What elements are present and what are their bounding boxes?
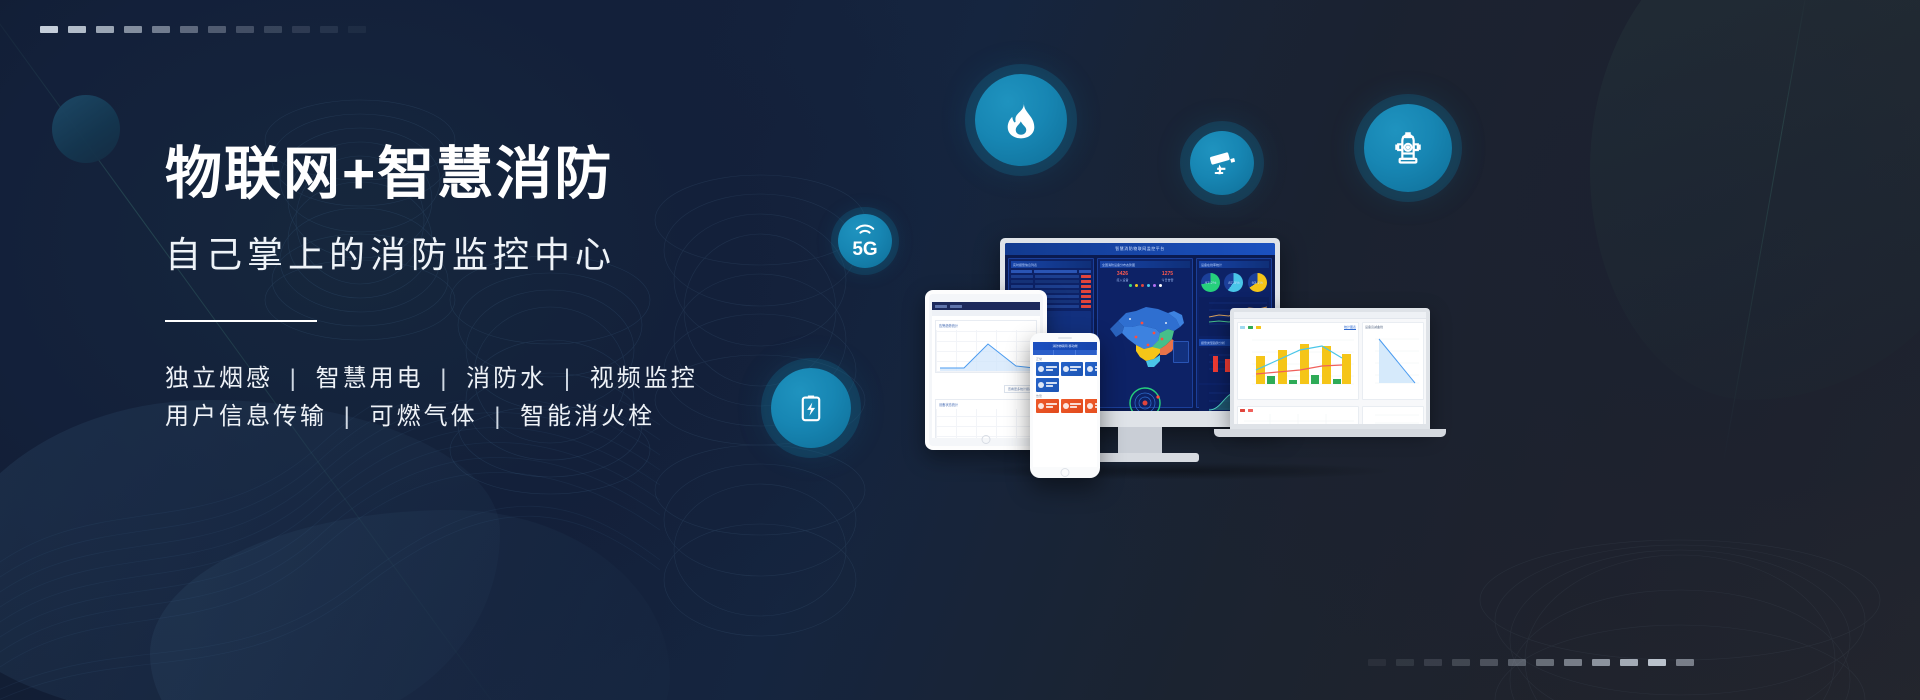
feature-item: 智能消火栓: [520, 403, 655, 430]
tile-label: [1070, 403, 1081, 409]
wave-blob-bottom-left: [0, 400, 500, 700]
kpi-value: 3426: [1116, 271, 1128, 277]
feature-item: 智慧用电: [316, 365, 424, 392]
laptop-card-header-2: 设备衰减曲线: [1365, 325, 1421, 329]
online-rate-header: 设备在线率统计: [1199, 261, 1269, 268]
online-rate-title: 设备在线率统计: [1201, 263, 1222, 267]
laptop-card-title-2: 设备衰减曲线: [1365, 325, 1383, 329]
feature-separator: |: [433, 365, 456, 392]
gauge-row: 97.2% 87.5% 93.1%: [1199, 270, 1269, 295]
tile-label: [1095, 366, 1098, 372]
tablet-chart-card-1: 告警趋势统计: [935, 320, 1037, 373]
dash-ruler-bottom-right: [1368, 659, 1694, 666]
phone-speaker: [1058, 337, 1072, 339]
diagonal-accent-line-right: [1718, 0, 1809, 492]
kpi-value: 1275: [1161, 271, 1173, 277]
tablet-screen: 告警趋势统计 查看更多统计报表 设备状态统计: [932, 302, 1040, 438]
teal-circle-decoration: [52, 95, 120, 163]
hero-banner: 物联网+智慧消防 自己掌上的消防监控中心 独立烟感 | 智慧用电 | 消防水 |…: [0, 0, 1920, 700]
cctv-camera-icon: [1190, 131, 1254, 195]
feature-item: 独立烟感: [165, 365, 273, 392]
laptop-card-header: 统计图表: [1240, 325, 1356, 330]
wave-blob-top-right: [1590, 0, 1920, 400]
radar-chart: [1100, 381, 1190, 411]
phone-tile[interactable]: [1061, 362, 1084, 376]
feature-item: 可燃气体: [370, 403, 478, 430]
laptop-tab-chart[interactable]: 统计图表: [1344, 325, 1356, 330]
kpi-label: 今日告警: [1161, 278, 1173, 282]
laptop-base: [1214, 429, 1446, 437]
tile-icon: [1063, 403, 1069, 409]
tile-label: [1046, 382, 1057, 388]
tablet-chart-title-2: 设备状态统计: [936, 400, 1036, 409]
monitor-neck: [1118, 427, 1162, 453]
alarm-trend-title: 报警类型趋势分析: [1201, 341, 1225, 345]
dashboard-header: 智慧消防物联网监控平台: [1005, 243, 1275, 255]
laptop-side-chart-card: [1362, 406, 1424, 424]
laptop-chart-row-1: 统计图表: [1234, 319, 1426, 403]
page-title: 物联网+智慧消防: [165, 142, 885, 208]
tile-icon: [1038, 366, 1044, 372]
alarm-list-title: 实时报警信息列表: [1013, 263, 1037, 267]
feature-item: 消防水: [466, 365, 547, 392]
phone-tile[interactable]: [1061, 399, 1084, 413]
phone-tile-grid-orange: [1033, 399, 1097, 413]
tile-icon: [1038, 403, 1044, 409]
phone-home-button[interactable]: [1061, 468, 1070, 477]
5g-signal-icon: 5G: [838, 214, 892, 268]
tablet-tab-devices[interactable]: [950, 305, 962, 308]
laptop-app-header: [1234, 312, 1426, 319]
flame-icon: [975, 74, 1067, 166]
feature-separator: |: [283, 365, 306, 392]
alarm-list-header: 实时报警信息列表: [1011, 261, 1091, 268]
fire-hydrant-icon: [1364, 104, 1452, 192]
tile-icon: [1087, 366, 1093, 372]
battery-charge-icon: [771, 368, 851, 448]
phone-screen: 消防物联网·移动端 正常: [1033, 342, 1097, 467]
tile-label: [1070, 366, 1081, 372]
tile-icon: [1087, 403, 1093, 409]
mobile-phone: 消防物联网·移动端 正常: [1030, 333, 1100, 478]
kpi-card: 1275 今日告警: [1161, 271, 1173, 282]
laptop-lid: 统计图表: [1230, 308, 1430, 429]
device-shadow: [960, 462, 1400, 480]
tile-icon: [1038, 382, 1044, 388]
table-row: [1011, 275, 1091, 278]
gauge-value: 97.2%: [1201, 273, 1220, 292]
phone-section-alarm: 告警: [1033, 392, 1097, 399]
phone-tile[interactable]: [1036, 362, 1059, 376]
tablet-area-chart: [936, 330, 1036, 372]
kpi-card: 3426 接入设备: [1116, 271, 1128, 282]
tablet-chart-card-2: 设备状态统计: [935, 399, 1037, 438]
tablet-flat-chart: [936, 409, 1036, 438]
laptop-bar-chart-card: 统计图表: [1237, 322, 1359, 400]
dash-ruler-top-left: [40, 26, 366, 33]
phone-tab-bar: [1033, 350, 1097, 355]
phone-title: 消防物联网·移动端: [1053, 344, 1078, 348]
feature-item: 视频监控: [590, 365, 698, 392]
wave-blob-bottom-left-2: [150, 510, 670, 700]
phone-tab-overview[interactable]: [1033, 350, 1054, 355]
kpi-row: 3426 接入设备 1275 今日告警: [1100, 271, 1190, 282]
laptop-screen: 统计图表: [1234, 312, 1426, 424]
phone-tile-grid-blue: [1033, 362, 1097, 392]
phone-section-normal: 正常: [1033, 355, 1097, 362]
gauge-chart: 87.5%: [1224, 273, 1243, 292]
moire-pattern-bottom-right: [1440, 440, 1920, 700]
map-panel: 全国消防设备分布态势图 3426 接入设备 1275 今日告警: [1097, 258, 1193, 408]
table-header-row: [1011, 270, 1091, 273]
gauge-chart: 93.1%: [1248, 273, 1267, 292]
phone-tile[interactable]: [1036, 378, 1059, 392]
phone-tile[interactable]: [1085, 362, 1097, 376]
tile-label: [1095, 403, 1098, 409]
title-divider: [165, 320, 317, 322]
phone-header: 消防物联网·移动端: [1033, 342, 1097, 350]
dashboard-title: 智慧消防物联网监控平台: [1115, 246, 1165, 252]
gauge-value: 93.1%: [1248, 273, 1267, 292]
feature-separator: |: [557, 365, 580, 392]
tablet-home-button[interactable]: [982, 435, 991, 444]
feature-separator: |: [337, 403, 360, 430]
map-panel-title: 全国消防设备分布态势图: [1102, 263, 1135, 267]
china-map: [1100, 289, 1190, 381]
tablet-chart-title-1: 告警趋势统计: [936, 321, 1036, 330]
tile-icon: [1063, 366, 1069, 372]
laptop-device: 统计图表: [1230, 308, 1430, 437]
map-panel-header: 全国消防设备分布态势图: [1100, 261, 1190, 268]
device-mockup-cluster: 智慧消防物联网监控平台 实时报警信息列表: [900, 230, 1460, 480]
table-row: [1011, 280, 1091, 283]
laptop-area-chart-card: 设备衰减曲线: [1362, 322, 1424, 400]
laptop-chart-legend: [1240, 326, 1261, 329]
phone-tab-alarm[interactable]: [1054, 350, 1075, 355]
gauge-value: 87.5%: [1224, 273, 1243, 292]
tile-label: [1046, 403, 1057, 409]
feature-item: 用户信息传输: [165, 403, 327, 430]
gauge-chart: 97.2%: [1201, 273, 1220, 292]
laptop-legend-2: [1240, 409, 1356, 412]
laptop-chart-row-2: [1234, 403, 1426, 424]
tablet-header: [932, 302, 1040, 310]
laptop-table-card: [1237, 406, 1359, 424]
phone-tab-device[interactable]: [1076, 350, 1097, 355]
feature-separator: |: [487, 403, 510, 430]
phone-tile[interactable]: [1085, 399, 1097, 413]
tablet-subheader: [932, 310, 1040, 316]
tablet-tab-home[interactable]: [935, 305, 947, 308]
map-stat-card: [1173, 341, 1189, 363]
page-subtitle: 自己掌上的消防监控中心: [165, 226, 885, 278]
moire-pattern-bottom-left: [0, 400, 660, 700]
table-row: [1011, 285, 1091, 288]
5g-label: 5G: [852, 240, 877, 259]
phone-tile[interactable]: [1036, 399, 1059, 413]
kpi-label: 接入设备: [1116, 278, 1128, 282]
map-legend: [1100, 284, 1190, 287]
tile-label: [1046, 366, 1057, 372]
tablet-device: 告警趋势统计 查看更多统计报表 设备状态统计: [925, 290, 1047, 450]
